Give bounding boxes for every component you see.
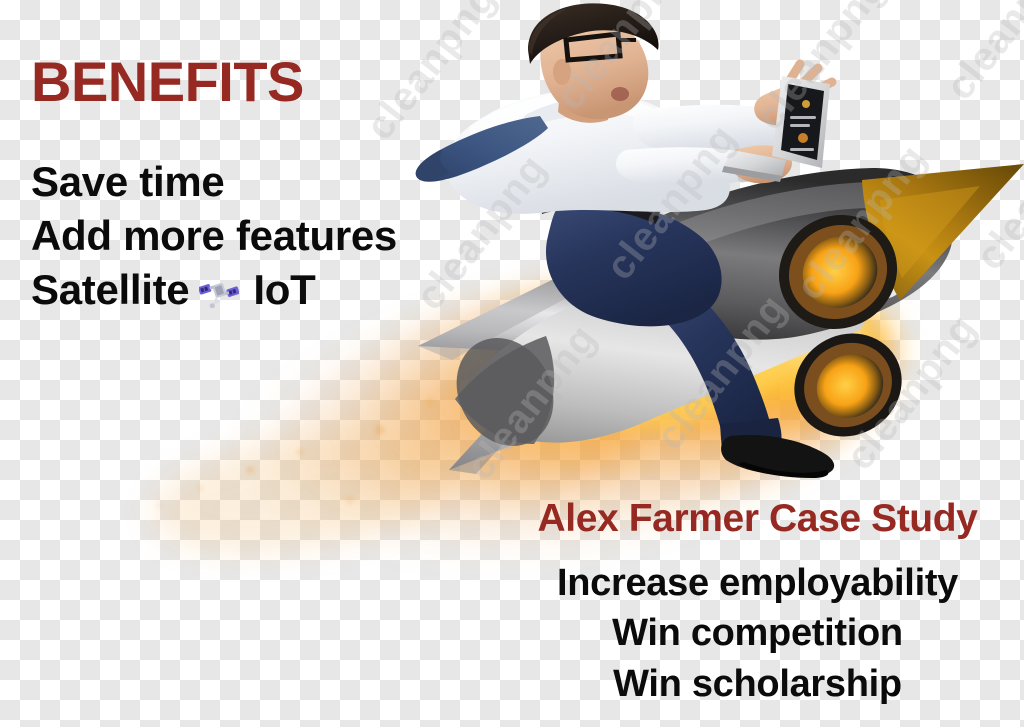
businessman — [616, 145, 792, 186]
watermark-text: cleanpng — [358, 0, 506, 149]
rocket-body — [606, 168, 953, 340]
laptop — [722, 76, 830, 182]
case-study-block: Alex Farmer Case Study Increase employab… — [500, 497, 1015, 709]
watermark: cleanpng cleanpng cleanpng cleanpng clea… — [330, 0, 1024, 520]
watermark-text: cleanpng — [968, 106, 1024, 278]
rocket-exhaust-nozzle — [758, 194, 918, 351]
list-item-label: IoT — [253, 266, 315, 313]
watermark-text: cleanpng — [408, 146, 556, 318]
watermark-text: cleanpng — [938, 0, 1024, 109]
watermark-text: cleanpng — [598, 116, 746, 288]
watermark-text: cleanpng — [788, 136, 936, 308]
rocket-fin — [449, 338, 716, 474]
businessman — [660, 268, 834, 478]
glasses-icon — [566, 34, 636, 60]
watermark-text: cleanpng — [458, 316, 606, 488]
page-title: BENEFITS — [31, 54, 304, 110]
rocket-nose-cone — [862, 164, 1024, 300]
list-item: Win competition — [500, 608, 1015, 659]
rocket-fin — [418, 276, 700, 360]
list-item: Add more features — [31, 209, 397, 263]
watermark-text: cleanpng — [748, 0, 896, 139]
businessman — [528, 3, 659, 122]
list-item-label: Satellite — [31, 266, 189, 313]
list-item: Win scholarship — [500, 659, 1015, 710]
wristwatch-icon — [734, 147, 755, 183]
rocket-exhaust-nozzle — [775, 313, 921, 456]
watermark-text: cleanpng — [838, 306, 986, 478]
case-study-list: Increase employability Win competition W… — [500, 558, 1015, 710]
businessman — [416, 116, 548, 182]
businessman — [540, 191, 722, 327]
watermark-text: cleanpng — [548, 0, 696, 119]
businessman — [446, 91, 730, 214]
case-study-title: Alex Farmer Case Study — [500, 497, 1015, 542]
benefits-list: Save time Add more features Satellite — [31, 155, 397, 316]
list-item: Save time — [31, 155, 397, 209]
slide-canvas: cleanpng cleanpng cleanpng cleanpng clea… — [0, 0, 1024, 727]
list-item: Satellite — [31, 263, 397, 317]
rocket-body — [438, 214, 875, 463]
watermark-text: cleanpng — [648, 286, 796, 458]
satellite-icon — [199, 267, 239, 301]
list-item: Increase employability — [500, 558, 1015, 609]
businessman — [633, 64, 832, 152]
